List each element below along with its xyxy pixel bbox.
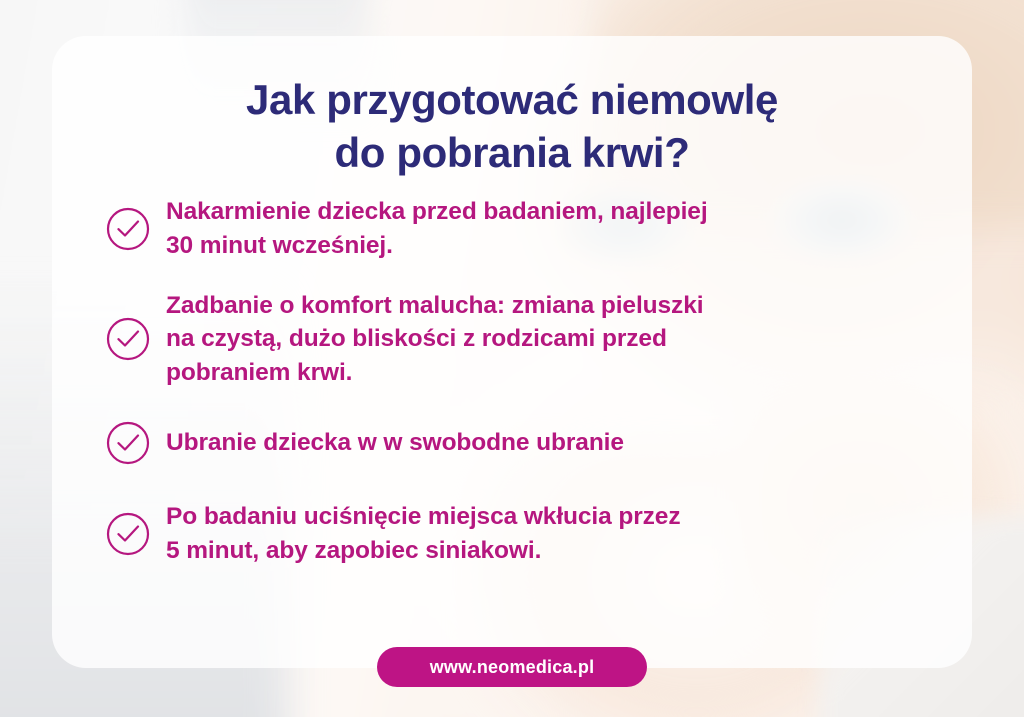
circle-check-icon (105, 511, 151, 557)
list-item: Po badaniu uciśnięcie miejsca wkłucia pr… (105, 500, 969, 568)
circle-check-icon (105, 420, 151, 466)
list-item-text: Po badaniu uciśnięcie miejsca wkłucia pr… (166, 500, 680, 568)
infographic-poster: Jak przygotować niemowlę do pobrania krw… (0, 0, 1024, 717)
list-item-text: Ubranie dziecka w w swobodne ubranie (166, 426, 624, 460)
list-item-line: Nakarmienie dziecka przed badaniem, najl… (166, 195, 708, 229)
list-item-line: pobraniem krwi. (166, 356, 703, 390)
circle-check-icon (105, 206, 151, 252)
list-item-line: Zadbanie o komfort malucha: zmiana pielu… (166, 289, 703, 323)
list-item: Ubranie dziecka w w swobodne ubranie (105, 420, 969, 466)
list-item-line: na czystą, dużo bliskości z rodzicami pr… (166, 322, 703, 356)
page-title-line-2: do pobrania krwi? (0, 127, 1024, 180)
list-item: Zadbanie o komfort malucha: zmiana pielu… (105, 289, 969, 390)
list-item-line: Ubranie dziecka w w swobodne ubranie (166, 426, 624, 460)
list-item-text: Zadbanie o komfort malucha: zmiana pielu… (166, 289, 703, 390)
page-title: Jak przygotować niemowlę do pobrania krw… (0, 74, 1024, 180)
list-item-line: 5 minut, aby zapobiec siniakowi. (166, 534, 680, 568)
list-item: Nakarmienie dziecka przed badaniem, najl… (105, 195, 969, 263)
list-item-line: 30 minut wcześniej. (166, 229, 708, 263)
circle-check-icon (105, 316, 151, 362)
list-item-line: Po badaniu uciśnięcie miejsca wkłucia pr… (166, 500, 680, 534)
page-title-line-1: Jak przygotować niemowlę (0, 74, 1024, 127)
checklist: Nakarmienie dziecka przed badaniem, najl… (105, 195, 969, 590)
list-item-text: Nakarmienie dziecka przed badaniem, najl… (166, 195, 708, 263)
website-url-button[interactable]: www.neomedica.pl (377, 647, 647, 687)
